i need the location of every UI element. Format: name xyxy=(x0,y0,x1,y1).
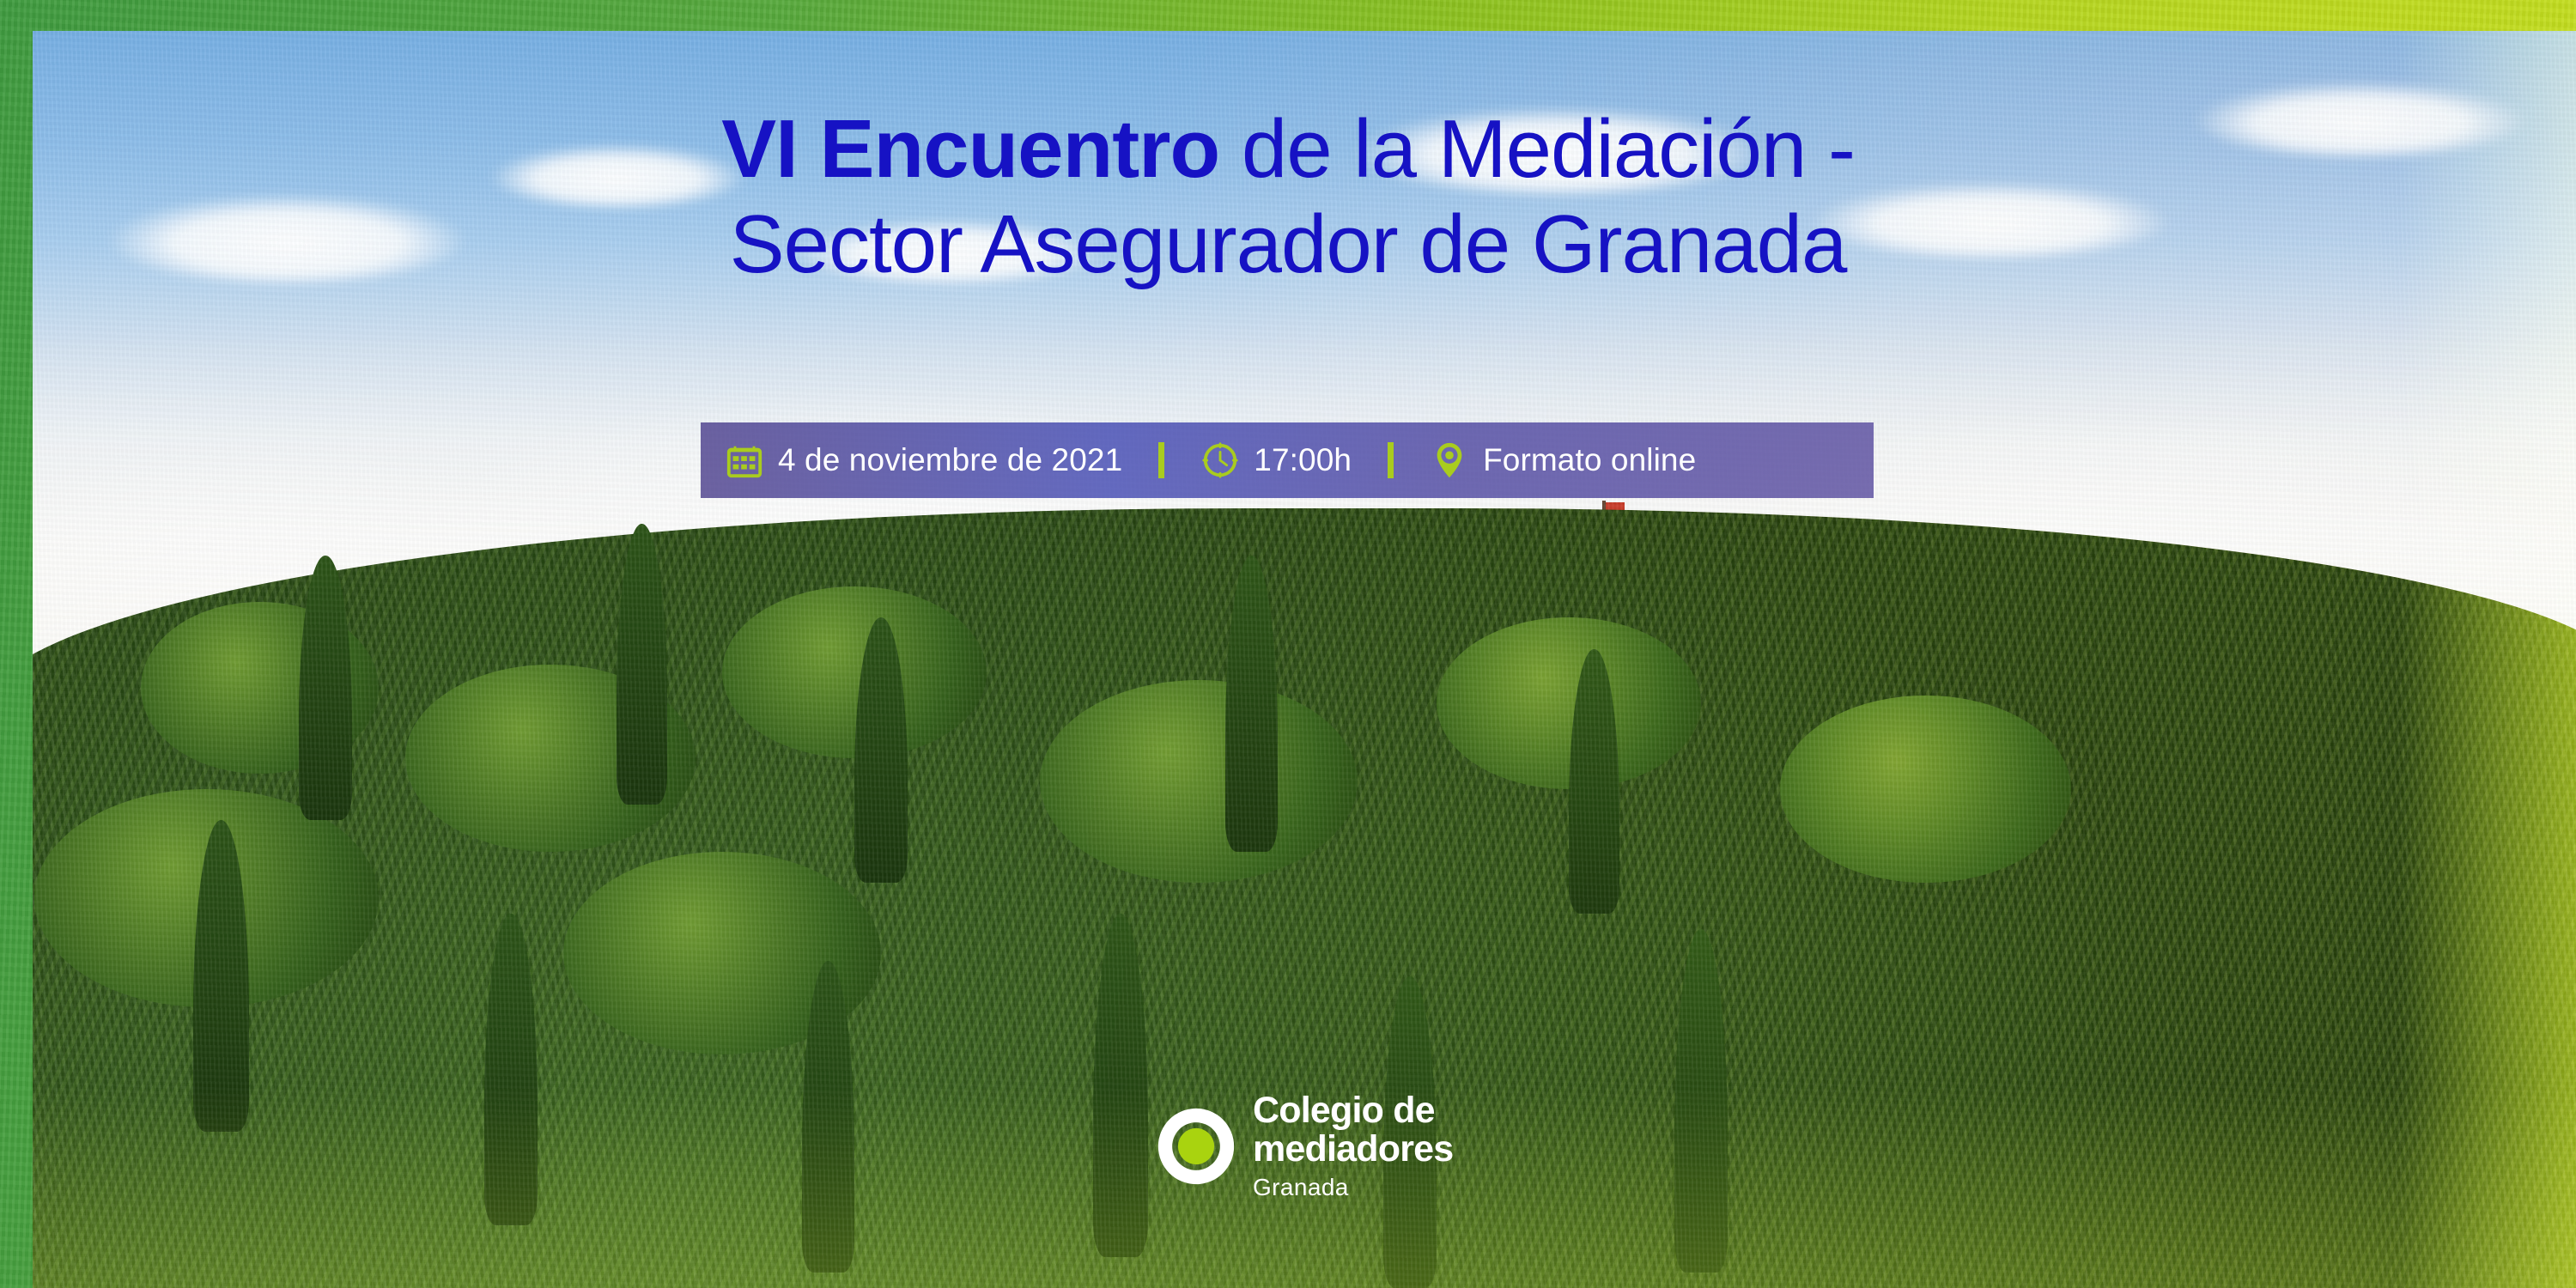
logo-line-2: mediadores xyxy=(1253,1131,1453,1168)
event-time-label: 17:00h xyxy=(1254,442,1352,478)
logo-wordmark: Colegio de mediadores Granada xyxy=(1253,1092,1453,1200)
event-date-label: 4 de noviembre de 2021 xyxy=(778,442,1122,478)
colegio-mediadores-logomark-icon xyxy=(1155,1105,1237,1188)
title-rest: de la Mediación - xyxy=(1219,103,1855,195)
event-date: 4 de noviembre de 2021 xyxy=(725,440,1122,480)
separator xyxy=(1388,442,1394,478)
clock-icon xyxy=(1200,440,1240,480)
title-line-2: Sector Asegurador de Granada xyxy=(730,198,1847,290)
event-format: Formato online xyxy=(1430,440,1696,480)
event-banner: VI Encuentro de la Mediación - Sector As… xyxy=(0,0,2576,1288)
separator xyxy=(1158,442,1164,478)
event-format-label: Formato online xyxy=(1483,442,1696,478)
banner-content: VI Encuentro de la Mediación - Sector As… xyxy=(0,0,2576,1288)
calendar-icon xyxy=(725,440,764,480)
location-pin-icon xyxy=(1430,440,1469,480)
event-details-bar: 4 de noviembre de 2021 17:00h Formato on… xyxy=(701,422,1874,498)
event-time: 17:00h xyxy=(1200,440,1352,480)
page-title: VI Encuentro de la Mediación - Sector As… xyxy=(0,101,2576,293)
title-emphasis: VI Encuentro xyxy=(721,103,1219,195)
logo-line-1: Colegio de xyxy=(1253,1092,1453,1129)
logo-line-3: Granada xyxy=(1253,1176,1453,1200)
organization-logo: Colegio de mediadores Granada xyxy=(1155,1092,1453,1200)
